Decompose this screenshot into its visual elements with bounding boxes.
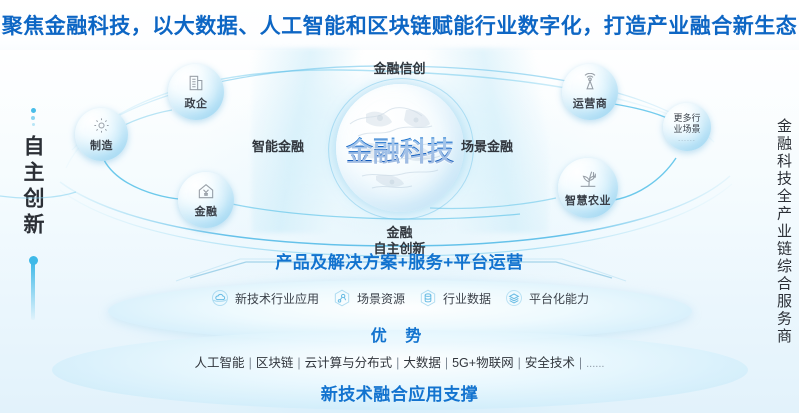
capability-label: 平台化能力 (529, 290, 589, 307)
industry-bubble-operator[interactable]: 运营商 (562, 64, 618, 120)
yen-house-icon (196, 181, 216, 201)
industry-bubble-label: 更多行 业场景 (673, 113, 700, 135)
smart-farm-icon (577, 168, 599, 190)
tech-separator: | (297, 356, 300, 370)
core-globe: 金融科技 (322, 84, 478, 216)
platform-title: 产品及解决方案+服务+平台运营 (0, 248, 799, 273)
tech-item: 5G+物联网 (452, 356, 513, 370)
cloud-icon (210, 288, 230, 308)
layers-icon (504, 288, 524, 308)
tech-item: 云计算与分布式 (305, 356, 393, 370)
core-label-left: 智能金融 (252, 136, 304, 155)
technology-list: 人工智能|区块链|云计算与分布式|大数据|5G+物联网|安全技术|...... (0, 352, 799, 371)
building-icon (186, 73, 206, 93)
capability-label: 场景资源 (357, 290, 405, 307)
industry-bubble-label: 制造 (90, 137, 113, 153)
industry-bubble-label: 政企 (185, 95, 208, 111)
industry-bubble-finance[interactable]: 金融 (178, 172, 234, 228)
tech-separator: | (396, 356, 399, 370)
capability-label: 行业数据 (443, 290, 491, 307)
core-label: 金融科技 (322, 130, 478, 169)
industry-bubble-government[interactable]: 政企 (168, 64, 224, 120)
capability-row: 新技术行业应用 场景资源 行业数据 (0, 288, 799, 308)
capability-item-platform-capability[interactable]: 平台化能力 (504, 288, 589, 308)
advantage-title: 优 势 (0, 322, 799, 346)
capability-item-industry-data[interactable]: 行业数据 (418, 288, 491, 308)
industry-bubble-more-scenarios[interactable]: 更多行 业场景 ...... (663, 103, 711, 151)
capability-item-new-tech[interactable]: 新技术行业应用 (210, 288, 319, 308)
footer-title: 新技术融合应用支撑 (0, 380, 799, 405)
tech-separator: | (518, 356, 521, 370)
antenna-icon (580, 73, 600, 93)
industry-bubble-label: 金融 (195, 203, 218, 219)
core-label-right: 场景金融 (461, 136, 513, 155)
tech-item: 大数据 (403, 356, 441, 370)
industry-bubble-label: 智慧农业 (565, 192, 611, 208)
infographic-canvas: 聚焦金融科技，以大数据、人工智能和区块链赋能行业数字化，打造产业融合新生态 自主… (0, 0, 799, 413)
tech-item: 区块链 (256, 356, 294, 370)
gear-icon (92, 116, 111, 135)
industry-bubble-label: 运营商 (573, 95, 608, 111)
capability-label: 新技术行业应用 (235, 290, 319, 307)
tech-item: 人工智能 (195, 356, 245, 370)
industry-bubble-manufacturing[interactable]: 制造 (75, 108, 128, 161)
database-icon (418, 288, 438, 308)
tech-separator: | (579, 356, 582, 370)
tech-more: ...... (586, 358, 604, 370)
hexagon-node-icon (332, 288, 352, 308)
core-label-top: 金融信创 (0, 58, 799, 77)
more-dots: ...... (678, 136, 696, 143)
tech-separator: | (445, 356, 448, 370)
industry-bubble-smart-agriculture[interactable]: 智慧农业 (558, 158, 618, 218)
tech-separator: | (249, 356, 252, 370)
tech-item: 安全技术 (525, 356, 575, 370)
capability-item-scenario-resources[interactable]: 场景资源 (332, 288, 405, 308)
